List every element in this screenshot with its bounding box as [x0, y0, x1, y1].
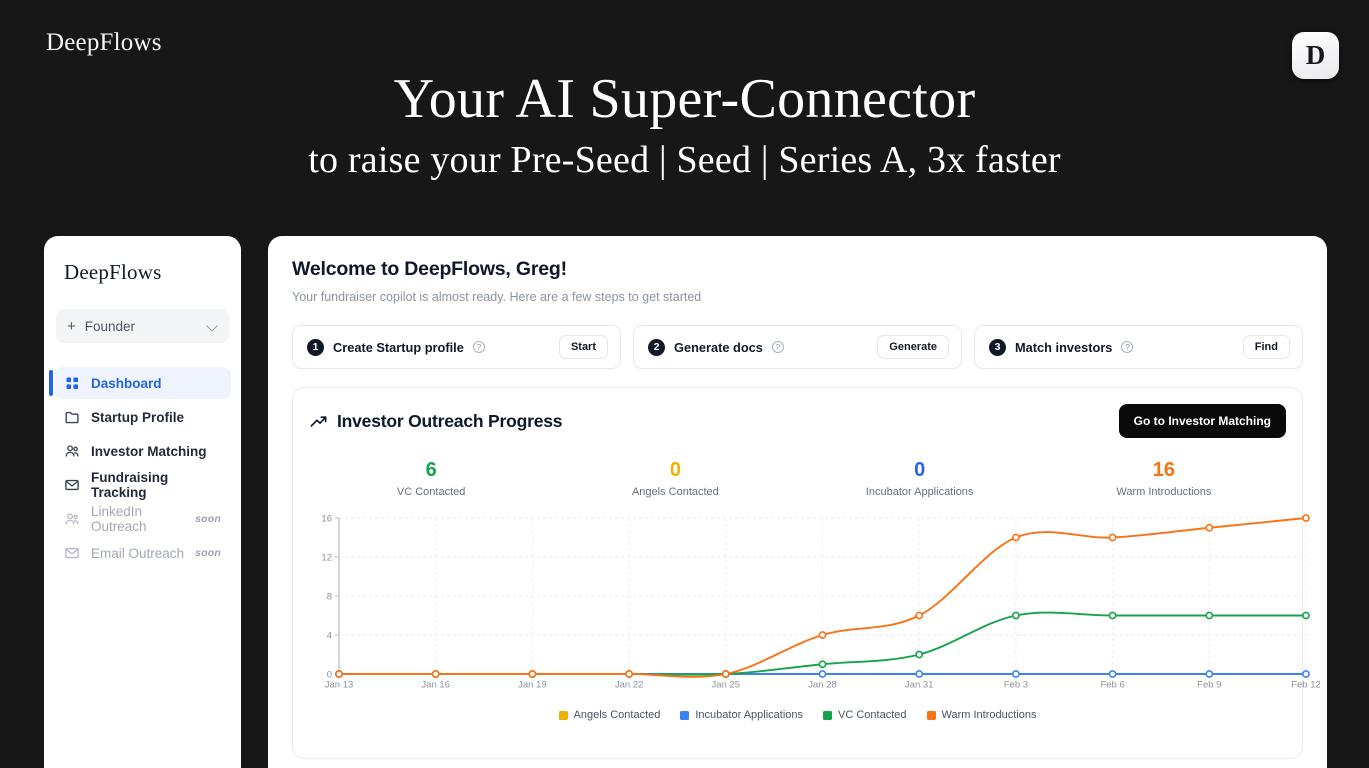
step-number: 3: [989, 339, 1006, 356]
hero-wordmark: DeepFlows: [46, 29, 162, 57]
svg-text:16: 16: [321, 514, 332, 525]
go-to-investor-matching-button[interactable]: Go to Investor Matching: [1119, 404, 1286, 438]
stat-label: Angels Contacted: [553, 486, 797, 498]
help-circle-icon[interactable]: ?: [772, 341, 784, 353]
step-action-button[interactable]: Find: [1243, 335, 1290, 359]
svg-text:12: 12: [321, 553, 332, 564]
help-circle-icon[interactable]: ?: [1121, 341, 1133, 353]
grid-icon: [64, 375, 80, 391]
svg-text:Feb 6: Feb 6: [1100, 680, 1124, 691]
svg-text:Feb 3: Feb 3: [1004, 680, 1028, 691]
hero-section: Your AI Super-Connector to raise your Pr…: [0, 66, 1369, 182]
plus-icon: +: [67, 319, 76, 334]
sidebar-item-label: Fundraising Tracking: [91, 470, 221, 500]
step-label: Match investors: [1015, 340, 1112, 355]
users-icon: [64, 511, 80, 527]
legend-swatch: [680, 711, 689, 720]
legend-item[interactable]: Incubator Applications: [680, 709, 803, 721]
stat-tile: 16Warm Introductions: [1042, 459, 1286, 498]
legend-item[interactable]: Warm Introductions: [927, 709, 1037, 721]
outreach-stats: 6VC Contacted0Angels Contacted0Incubator…: [309, 459, 1286, 498]
chart-legend: Angels ContactedIncubator ApplicationsVC…: [309, 709, 1286, 721]
chart-title-text: Investor Outreach Progress: [337, 411, 562, 432]
trending-up-icon: [309, 412, 328, 431]
svg-text:Jan 16: Jan 16: [421, 680, 450, 691]
sidebar: DeepFlows + Founder DashboardStartup Pro…: [44, 236, 241, 768]
stat-value: 0: [798, 459, 1042, 481]
onboarding-steps: 1Create Startup profile?Start2Generate d…: [292, 325, 1303, 369]
chart-header: Investor Outreach Progress Go to Investo…: [309, 404, 1286, 438]
sidebar-item-label: Investor Matching: [91, 444, 207, 459]
chevron-down-icon: [208, 321, 218, 331]
svg-text:Jan 28: Jan 28: [808, 680, 837, 691]
line-chart: 0481216Jan 13Jan 16Jan 19Jan 22Jan 25Jan…: [309, 510, 1286, 696]
stat-value: 6: [309, 459, 553, 481]
sidebar-item-badge: soon: [195, 513, 221, 525]
sidebar-item-label: Startup Profile: [91, 410, 184, 425]
sidebar-item-email-outreach[interactable]: Email Outreachsoon: [54, 537, 231, 569]
svg-text:Feb 9: Feb 9: [1197, 680, 1221, 691]
stat-tile: 0Angels Contacted: [553, 459, 797, 498]
sidebar-item-fundraising-tracking[interactable]: Fundraising Tracking: [54, 469, 231, 501]
legend-label: VC Contacted: [838, 709, 906, 721]
legend-label: Incubator Applications: [695, 709, 803, 721]
stat-tile: 6VC Contacted: [309, 459, 553, 498]
stat-value: 16: [1042, 459, 1286, 481]
svg-text:4: 4: [327, 631, 332, 642]
svg-text:Jan 31: Jan 31: [905, 680, 934, 691]
line-chart-svg: 0481216Jan 13Jan 16Jan 19Jan 22Jan 25Jan…: [309, 510, 1320, 696]
sidebar-item-startup-profile[interactable]: Startup Profile: [54, 401, 231, 433]
sidebar-item-label: Dashboard: [91, 376, 162, 391]
svg-text:Jan 13: Jan 13: [325, 680, 354, 691]
help-circle-icon[interactable]: ?: [473, 341, 485, 353]
step-label: Generate docs: [674, 340, 763, 355]
legend-swatch: [559, 711, 568, 720]
page-title: Welcome to DeepFlows, Greg!: [292, 258, 1303, 281]
sidebar-item-dashboard[interactable]: Dashboard: [54, 367, 231, 399]
org-switcher-label: Founder: [85, 319, 199, 334]
sidebar-item-label: Email Outreach: [91, 546, 184, 561]
sidebar-brand: DeepFlows: [44, 256, 241, 285]
main-content: Welcome to DeepFlows, Greg! Your fundrai…: [268, 236, 1327, 768]
stat-label: VC Contacted: [309, 486, 553, 498]
stat-tile: 0Incubator Applications: [798, 459, 1042, 498]
sidebar-item-linkedin-outreach[interactable]: LinkedIn Outreachsoon: [54, 503, 231, 535]
users-icon: [64, 443, 80, 459]
stat-value: 0: [553, 459, 797, 481]
envelope-icon: [64, 477, 80, 493]
legend-swatch: [823, 711, 832, 720]
investor-outreach-card: Investor Outreach Progress Go to Investo…: [292, 387, 1303, 759]
legend-label: Angels Contacted: [574, 709, 661, 721]
step-label: Create Startup profile: [333, 340, 464, 355]
legend-item[interactable]: VC Contacted: [823, 709, 906, 721]
folder-icon: [64, 409, 80, 425]
stat-label: Incubator Applications: [798, 486, 1042, 498]
legend-swatch: [927, 711, 936, 720]
stat-label: Warm Introductions: [1042, 486, 1286, 498]
svg-text:Jan 25: Jan 25: [712, 680, 741, 691]
envelope-icon: [64, 545, 80, 561]
chart-title: Investor Outreach Progress: [309, 411, 562, 432]
legend-item[interactable]: Angels Contacted: [559, 709, 661, 721]
step-number: 2: [648, 339, 665, 356]
org-switcher[interactable]: + Founder: [56, 309, 229, 343]
app-window: DeepFlows + Founder DashboardStartup Pro…: [44, 236, 1327, 768]
svg-text:Feb 12: Feb 12: [1291, 680, 1320, 691]
sidebar-nav: DashboardStartup ProfileInvestor Matchin…: [44, 367, 241, 569]
step-action-button[interactable]: Generate: [877, 335, 949, 359]
svg-text:Jan 22: Jan 22: [615, 680, 644, 691]
sidebar-item-investor-matching[interactable]: Investor Matching: [54, 435, 231, 467]
step-number: 1: [307, 339, 324, 356]
step-card: 3Match investors?Find: [974, 325, 1303, 369]
sidebar-item-badge: soon: [195, 547, 221, 559]
step-card: 2Generate docs?Generate: [633, 325, 962, 369]
step-card: 1Create Startup profile?Start: [292, 325, 621, 369]
screen-root: DeepFlows D Your AI Super-Connector to r…: [0, 0, 1369, 768]
page-subtitle: Your fundraiser copilot is almost ready.…: [292, 290, 1303, 304]
legend-label: Warm Introductions: [942, 709, 1037, 721]
hero-title: Your AI Super-Connector: [0, 66, 1369, 132]
step-action-button[interactable]: Start: [559, 335, 608, 359]
svg-text:Jan 19: Jan 19: [518, 680, 547, 691]
svg-text:8: 8: [327, 592, 332, 603]
sidebar-item-label: LinkedIn Outreach: [91, 504, 184, 534]
hero-subtitle: to raise your Pre-Seed | Seed | Series A…: [0, 138, 1369, 182]
